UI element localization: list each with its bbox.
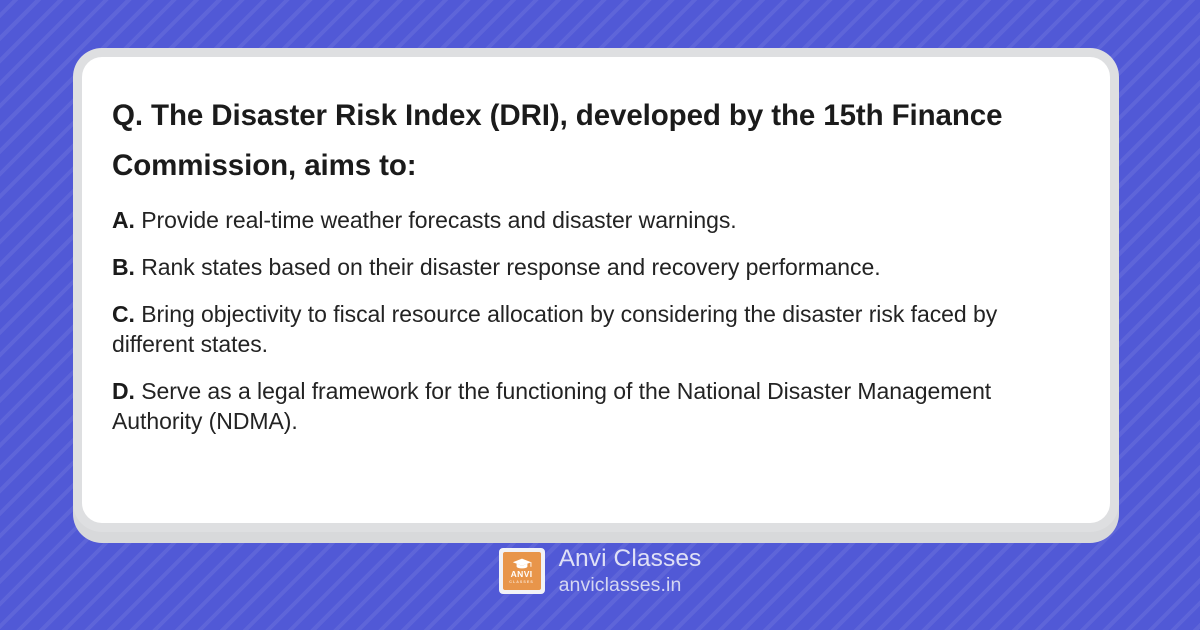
footer-branding: ANVI CLASSES Anvi Classes anviclasses.in <box>0 545 1200 597</box>
question-card: Q. The Disaster Risk Index (DRI), develo… <box>82 57 1110 523</box>
option-b-letter: B. <box>112 254 135 280</box>
brand-text-group: Anvi Classes anviclasses.in <box>559 545 702 597</box>
option-d-letter: D. <box>112 378 135 404</box>
option-c-text: Bring objectivity to fiscal resource all… <box>112 301 997 357</box>
option-c[interactable]: C. Bring objectivity to fiscal resource … <box>112 299 1080 359</box>
brand-url[interactable]: anviclasses.in <box>559 573 702 597</box>
option-d[interactable]: D. Serve as a legal framework for the fu… <box>112 376 1080 436</box>
logo-primary-text: ANVI <box>511 570 533 579</box>
option-b[interactable]: B. Rank states based on their disaster r… <box>112 252 1080 282</box>
logo-secondary-text: CLASSES <box>509 580 534 585</box>
options-list: A. Provide real-time weather forecasts a… <box>112 205 1080 436</box>
option-a-text: Provide real-time weather forecasts and … <box>141 207 736 233</box>
option-b-text: Rank states based on their disaster resp… <box>141 254 880 280</box>
question-text: Q. The Disaster Risk Index (DRI), develo… <box>112 91 1067 191</box>
option-d-text: Serve as a legal framework for the funct… <box>112 378 991 434</box>
brand-logo: ANVI CLASSES <box>499 548 545 594</box>
logo-inner: ANVI CLASSES <box>503 552 541 590</box>
option-a[interactable]: A. Provide real-time weather forecasts a… <box>112 205 1080 235</box>
option-c-letter: C. <box>112 301 135 327</box>
graduation-cap-icon <box>512 558 532 569</box>
option-a-letter: A. <box>112 207 135 233</box>
brand-name: Anvi Classes <box>559 545 702 573</box>
